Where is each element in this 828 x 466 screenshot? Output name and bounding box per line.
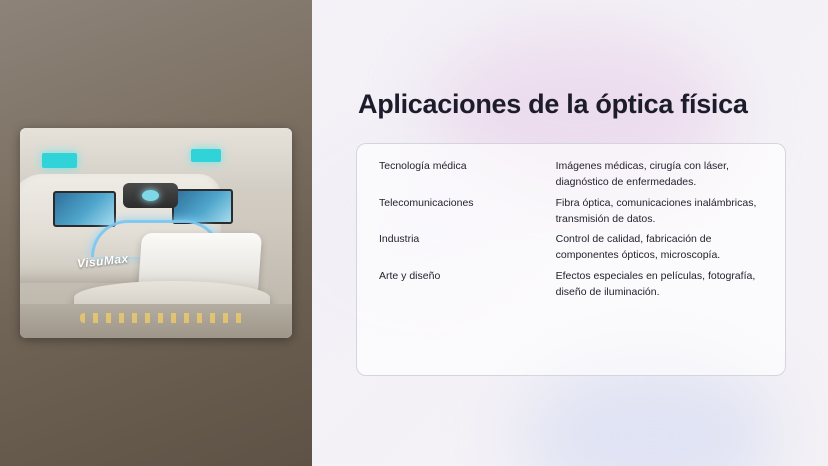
table-row: Tecnología médica Imágenes médicas, ciru… bbox=[379, 158, 763, 195]
application-name: Arte y diseño bbox=[379, 268, 556, 305]
page-title: Aplicaciones de la óptica física bbox=[358, 88, 798, 120]
monitor-right bbox=[172, 189, 233, 225]
left-image-panel: VisuMax bbox=[0, 0, 312, 466]
application-details: Efectos especiales en películas, fotogra… bbox=[556, 268, 763, 305]
applications-card: Tecnología médica Imágenes médicas, ciru… bbox=[356, 143, 786, 376]
device-photo: VisuMax bbox=[20, 128, 292, 338]
ceiling-light-left-icon bbox=[42, 153, 77, 168]
table-row: Industria Control de calidad, fabricació… bbox=[379, 231, 763, 268]
slide: VisuMax Aplicaciones de la óptica física… bbox=[0, 0, 828, 466]
application-name: Telecomunicaciones bbox=[379, 195, 556, 232]
table-row: Telecomunicaciones Fibra óptica, comunic… bbox=[379, 195, 763, 232]
content-panel: Aplicaciones de la óptica física Tecnolo… bbox=[312, 0, 828, 466]
floor-marker-lights bbox=[80, 313, 249, 324]
ceiling-light-right-icon bbox=[191, 149, 221, 162]
application-name: Tecnología médica bbox=[379, 158, 556, 195]
application-details: Fibra óptica, comunicaciones inalámbrica… bbox=[556, 195, 763, 232]
table-row: Arte y diseño Efectos especiales en pelí… bbox=[379, 268, 763, 305]
monitor-left bbox=[53, 191, 117, 227]
application-details: Control de calidad, fabricación de compo… bbox=[556, 231, 763, 268]
applications-table: Tecnología médica Imágenes médicas, ciru… bbox=[379, 158, 763, 304]
laser-head bbox=[123, 183, 177, 208]
application-details: Imágenes médicas, cirugía con láser, dia… bbox=[556, 158, 763, 195]
application-name: Industria bbox=[379, 231, 556, 268]
